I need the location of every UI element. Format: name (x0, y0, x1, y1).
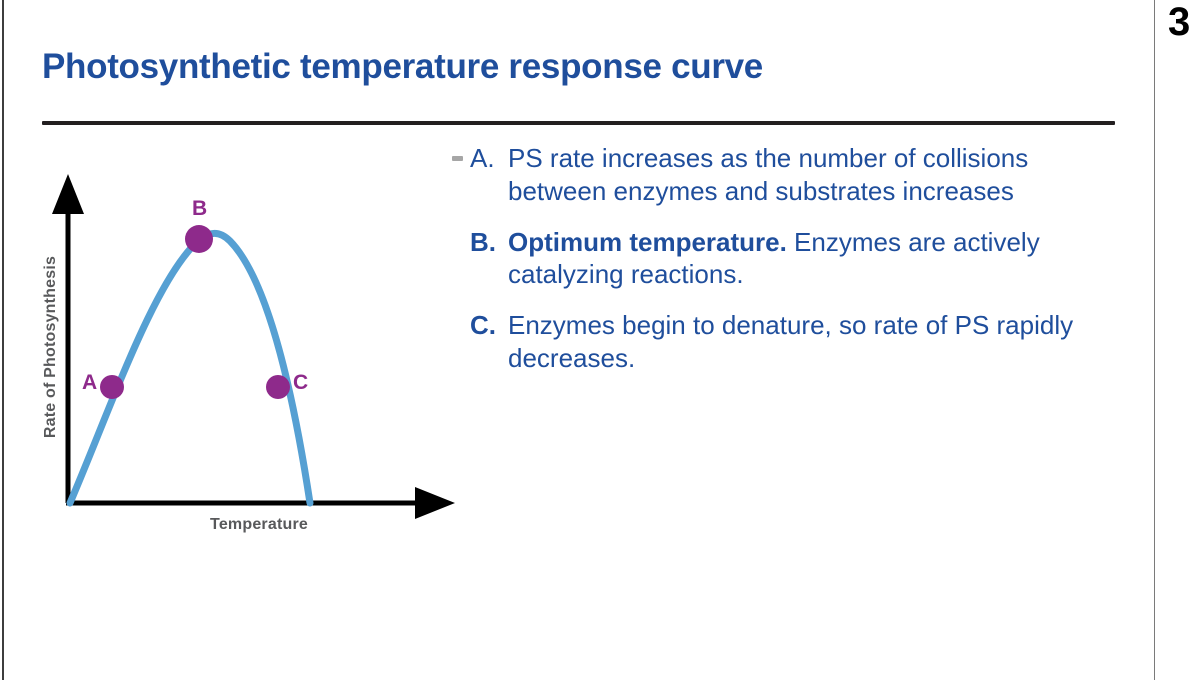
response-curve (70, 233, 310, 503)
list-item-b-lead: Optimum temperature. (508, 227, 787, 257)
data-point-b-marker (185, 225, 213, 253)
data-point-c-label: C (293, 372, 308, 393)
data-point-a-label: A (82, 372, 97, 393)
data-point-a-marker (100, 375, 124, 399)
slide-frame-left-border (2, 0, 4, 680)
x-axis-label: Temperature (114, 516, 404, 534)
list-item-a-text: PS rate increases as the number of colli… (508, 142, 1112, 208)
list-item-c: C. Enzymes begin to denature, so rate of… (452, 309, 1112, 375)
page-title: Photosynthetic temperature response curv… (42, 46, 1117, 87)
slide-frame-right-border (1154, 0, 1155, 680)
list-item-a-bullet (452, 142, 470, 161)
page-number: 3 (1168, 2, 1189, 42)
title-divider-rule (42, 121, 1115, 125)
x-axis-arrowhead-icon (415, 487, 455, 519)
dash-bullet-icon (452, 156, 463, 161)
slide-root: 3 Photosynthetic temperature response cu… (0, 0, 1196, 680)
data-point-b-label: B (192, 198, 207, 219)
photosynthesis-temperature-chart: A B C Rate of Photosynthesis Temperature (14, 160, 484, 560)
data-point-c-marker (266, 375, 290, 399)
list-item-c-text: Enzymes begin to denature, so rate of PS… (508, 309, 1112, 375)
list-item-b-text: Optimum temperature. Enzymes are activel… (508, 226, 1112, 292)
list-item-b-marker: B. (470, 226, 508, 259)
list-item-a-marker: A. (470, 142, 508, 175)
chart-plot-area (14, 160, 484, 560)
list-item-c-marker: C. (470, 309, 508, 342)
y-axis-arrowhead-icon (52, 174, 84, 214)
list-item-a: A. PS rate increases as the number of co… (452, 142, 1112, 208)
y-axis-label: Rate of Photosynthesis (42, 247, 60, 447)
explanation-list: A. PS rate increases as the number of co… (452, 142, 1112, 393)
list-item-b: B. Optimum temperature. Enzymes are acti… (452, 226, 1112, 292)
